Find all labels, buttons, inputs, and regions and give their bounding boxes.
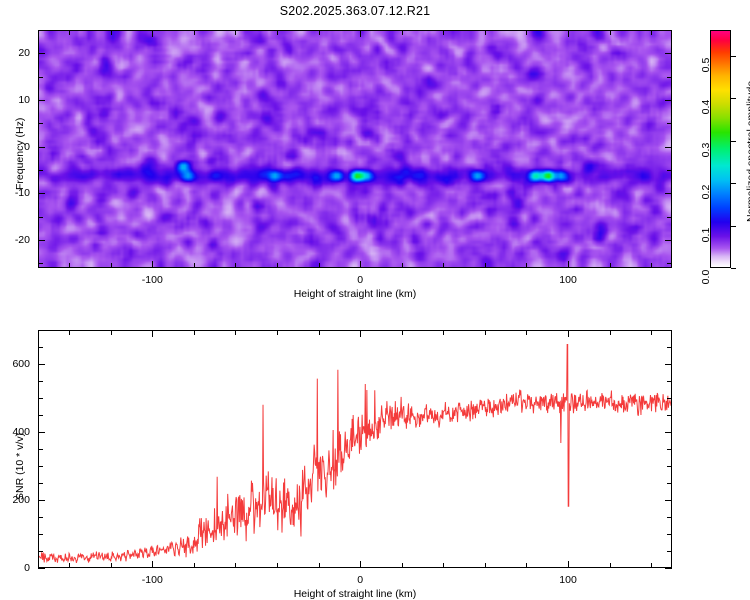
snr-ylabel: SNR (10 * v/v): [14, 433, 26, 500]
axis-tick: [152, 261, 153, 268]
axis-tick: [38, 147, 45, 148]
axis-tick: [277, 563, 278, 568]
colorbar-tick: [731, 56, 736, 57]
axis-tick-label: -100: [142, 274, 163, 286]
colorbar-tick-label: 0.2: [700, 183, 712, 201]
axis-tick: [38, 193, 45, 194]
axis-tick: [568, 30, 569, 37]
axis-tick: [485, 30, 486, 35]
axis-tick: [152, 30, 153, 37]
axis-tick: [38, 568, 45, 569]
axis-tick: [665, 147, 672, 148]
axis-tick: [526, 563, 527, 568]
axis-tick-label: 600: [0, 358, 30, 370]
axis-tick: [235, 563, 236, 568]
axis-tick: [38, 364, 45, 365]
axis-tick: [152, 561, 153, 568]
axis-tick: [526, 330, 527, 335]
axis-tick: [235, 30, 236, 35]
axis-tick: [667, 449, 672, 450]
axis-tick: [667, 381, 672, 382]
axis-tick-label: 0: [357, 574, 363, 586]
axis-tick: [38, 217, 43, 218]
axis-tick: [111, 563, 112, 568]
axis-tick: [38, 53, 45, 54]
axis-tick: [360, 30, 361, 37]
axis-tick: [38, 551, 43, 552]
figure-title: S202.2025.363.07.12.R21: [0, 4, 710, 18]
axis-tick: [111, 330, 112, 335]
axis-tick: [651, 263, 652, 268]
axis-tick: [665, 432, 672, 433]
axis-tick: [38, 534, 43, 535]
axis-tick: [526, 263, 527, 268]
axis-tick: [38, 517, 43, 518]
axis-tick: [667, 217, 672, 218]
axis-tick: [665, 364, 672, 365]
axis-tick: [402, 263, 403, 268]
axis-tick-label: -100: [142, 574, 163, 586]
axis-tick: [665, 240, 672, 241]
figure-canvas: S202.2025.363.07.12.R21 -1000100-20-1001…: [0, 0, 750, 600]
axis-tick-label: 100: [559, 274, 577, 286]
axis-tick-label: 100: [559, 574, 577, 586]
snr-plot-area: [39, 331, 671, 567]
axis-tick: [610, 563, 611, 568]
axis-tick: [38, 500, 45, 501]
axis-tick: [69, 263, 70, 268]
axis-tick: [667, 534, 672, 535]
axis-tick: [360, 561, 361, 568]
axis-tick: [38, 100, 45, 101]
axis-tick: [402, 563, 403, 568]
axis-tick: [610, 330, 611, 335]
axis-tick: [667, 415, 672, 416]
axis-tick: [485, 563, 486, 568]
axis-tick: [443, 30, 444, 35]
axis-tick: [38, 240, 45, 241]
axis-tick: [194, 263, 195, 268]
axis-tick: [667, 30, 672, 31]
colorbar-tick-label: 0.1: [700, 226, 712, 244]
axis-tick: [651, 563, 652, 568]
axis-tick: [568, 561, 569, 568]
axis-tick: [277, 330, 278, 335]
spectrogram-plot-area: [39, 31, 671, 267]
axis-tick: [667, 398, 672, 399]
axis-tick-label: 10: [0, 94, 30, 106]
axis-tick: [665, 500, 672, 501]
colorbar-label: Normalized spectral amplitude: [745, 81, 750, 222]
colorbar-tick-label: 0.3: [700, 141, 712, 159]
axis-tick: [194, 563, 195, 568]
axis-tick: [38, 483, 43, 484]
spectrogram-xlabel: Height of straight line (km): [294, 288, 417, 300]
axis-tick: [667, 483, 672, 484]
axis-tick: [526, 30, 527, 35]
axis-tick: [38, 449, 43, 450]
axis-tick: [38, 77, 43, 78]
axis-tick: [360, 261, 361, 268]
axis-tick: [38, 398, 43, 399]
axis-tick: [667, 347, 672, 348]
axis-tick: [38, 170, 43, 171]
axis-tick: [38, 432, 45, 433]
axis-tick: [665, 53, 672, 54]
axis-tick: [665, 100, 672, 101]
axis-tick: [235, 263, 236, 268]
colorbar-tick: [731, 141, 736, 142]
axis-tick: [38, 263, 43, 264]
axis-tick: [194, 30, 195, 35]
colorbar-tick: [731, 183, 736, 184]
axis-tick: [38, 381, 43, 382]
axis-tick: [319, 30, 320, 35]
axis-tick: [319, 330, 320, 335]
spectrogram-ylabel: Frequency (Hz): [14, 118, 26, 190]
axis-tick: [277, 263, 278, 268]
axis-tick: [38, 415, 43, 416]
axis-tick: [568, 330, 569, 337]
axis-tick-label: -20: [0, 234, 30, 246]
colorbar-tick-label: 0.0: [700, 268, 712, 286]
axis-tick: [667, 77, 672, 78]
snr-xlabel: Height of straight line (km): [294, 588, 417, 600]
axis-tick: [194, 330, 195, 335]
axis-tick: [651, 30, 652, 35]
axis-tick: [38, 330, 43, 331]
axis-tick: [665, 193, 672, 194]
axis-tick-label: 0: [0, 562, 30, 574]
axis-tick: [69, 330, 70, 335]
colorbar-tick: [731, 226, 736, 227]
axis-tick: [667, 263, 672, 264]
axis-tick: [667, 170, 672, 171]
colorbar-gradient: [711, 31, 730, 267]
axis-tick: [667, 466, 672, 467]
axis-tick: [485, 263, 486, 268]
spectrogram-panel: [38, 30, 672, 268]
snr-trace: [39, 331, 671, 567]
axis-tick: [319, 563, 320, 568]
snr-panel: [38, 330, 672, 568]
colorbar-tick: [731, 98, 736, 99]
axis-tick: [360, 330, 361, 337]
axis-tick: [651, 330, 652, 335]
axis-tick: [38, 123, 43, 124]
axis-tick: [111, 263, 112, 268]
axis-tick: [667, 551, 672, 552]
axis-tick: [235, 330, 236, 335]
axis-tick: [568, 261, 569, 268]
axis-tick: [38, 347, 43, 348]
axis-tick: [402, 30, 403, 35]
axis-tick: [667, 330, 672, 331]
axis-tick: [610, 263, 611, 268]
axis-tick: [443, 563, 444, 568]
colorbar-tick: [731, 268, 736, 269]
axis-tick-label: 0: [357, 274, 363, 286]
axis-tick: [319, 263, 320, 268]
axis-tick: [610, 30, 611, 35]
axis-tick: [38, 466, 43, 467]
colorbar: [710, 30, 731, 268]
snr-polyline: [39, 344, 671, 562]
axis-tick: [38, 30, 43, 31]
axis-tick: [667, 517, 672, 518]
axis-tick: [443, 330, 444, 335]
colorbar-tick-label: 0.5: [700, 56, 712, 74]
colorbar-tick-label: 0.4: [700, 98, 712, 116]
axis-tick-label: 20: [0, 47, 30, 59]
axis-tick: [69, 30, 70, 35]
axis-tick: [69, 563, 70, 568]
axis-tick: [111, 30, 112, 35]
axis-tick: [402, 330, 403, 335]
axis-tick: [443, 263, 444, 268]
spectrogram-image: [39, 31, 671, 267]
axis-tick: [152, 330, 153, 337]
axis-tick: [665, 568, 672, 569]
axis-tick: [485, 330, 486, 335]
axis-tick: [277, 30, 278, 35]
axis-tick: [667, 123, 672, 124]
